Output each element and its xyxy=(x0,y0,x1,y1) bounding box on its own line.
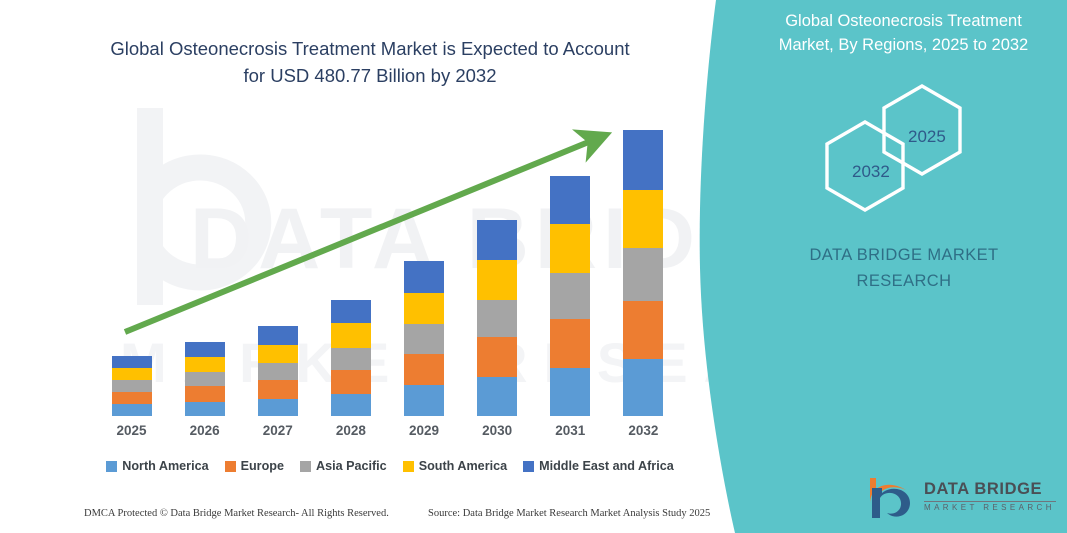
footer-copyright: DMCA Protected © Data Bridge Market Rese… xyxy=(84,508,389,519)
bar-segment xyxy=(112,392,152,404)
logo-main-text: DATA BRIDGE xyxy=(924,480,1060,498)
bar-segment xyxy=(550,273,590,319)
bar-segment xyxy=(331,370,371,393)
legend-item[interactable]: Middle East and Africa xyxy=(523,459,674,473)
panel-brand-line-1: DATA BRIDGE MARKET xyxy=(809,246,998,264)
bar-segment xyxy=(258,380,298,398)
x-axis-label-2031: 2031 xyxy=(535,423,605,438)
bar-segment xyxy=(112,368,152,380)
legend-swatch-icon xyxy=(225,461,236,472)
bar-segment xyxy=(477,260,517,300)
legend-label: Asia Pacific xyxy=(316,459,387,473)
bar-segment xyxy=(331,323,371,347)
bar-segment xyxy=(331,394,371,416)
x-axis-labels: 20252026202720282029203020312032 xyxy=(95,423,680,445)
logo-text: DATA BRIDGE MARKET RESEARCH xyxy=(924,480,1060,513)
bar-segment xyxy=(550,368,590,416)
logo-divider xyxy=(924,501,1056,502)
bar-segment xyxy=(331,300,371,323)
chart-legend: North AmericaEuropeAsia PacificSouth Ame… xyxy=(95,455,685,477)
panel-brand-line-2: RESEARCH xyxy=(857,272,952,290)
bar-segment xyxy=(258,363,298,380)
chart-title-line-1: Global Osteonecrosis Treatment Market is… xyxy=(110,38,629,59)
bar-segment xyxy=(185,357,225,372)
bar-segment xyxy=(185,342,225,357)
legend-label: South America xyxy=(419,459,507,473)
chart-panel: DATA BRIDGE MARKET RESEARCH Global Osteo… xyxy=(0,0,740,533)
bar-segment xyxy=(550,224,590,273)
bar-chart-plot-area xyxy=(95,110,680,416)
bar-segment xyxy=(477,337,517,377)
data-bridge-logo: DATA BRIDGE MARKET RESEARCH xyxy=(862,474,1058,526)
bar-segment xyxy=(331,348,371,370)
panel-title-line-1: Global Osteonecrosis Treatment xyxy=(785,12,1022,30)
panel-title-line-2: Market, By Regions, 2025 to 2032 xyxy=(779,36,1028,54)
stacked-bar-2032 xyxy=(623,130,663,416)
panel-brand-text: DATA BRIDGE MARKET RESEARCH xyxy=(754,243,1054,294)
infographic-root: DATA BRIDGE MARKET RESEARCH Global Osteo… xyxy=(0,0,1067,533)
stacked-bar-2026 xyxy=(185,342,225,416)
stacked-bar-2025 xyxy=(112,356,152,416)
bar-segment xyxy=(404,261,444,293)
bar-segment xyxy=(623,190,663,248)
bar-segment xyxy=(477,300,517,338)
bar-segment xyxy=(550,176,590,224)
legend-swatch-icon xyxy=(403,461,414,472)
hexagon-outlines xyxy=(740,82,1067,212)
bar-segment xyxy=(112,380,152,391)
legend-label: Europe xyxy=(241,459,284,473)
stacked-bar-2030 xyxy=(477,220,517,416)
x-axis-label-2026: 2026 xyxy=(170,423,240,438)
bar-segment xyxy=(404,324,444,354)
x-axis-label-2028: 2028 xyxy=(316,423,386,438)
bar-segment xyxy=(258,399,298,416)
bar-segment xyxy=(112,356,152,368)
bar-segment xyxy=(623,248,663,301)
logo-sub-text: MARKET RESEARCH xyxy=(924,504,1060,513)
x-axis-label-2032: 2032 xyxy=(608,423,678,438)
bar-segment xyxy=(477,220,517,260)
bar-segment xyxy=(185,372,225,386)
x-axis-label-2030: 2030 xyxy=(462,423,532,438)
panel-title: Global Osteonecrosis Treatment Market, B… xyxy=(750,10,1057,58)
legend-item[interactable]: South America xyxy=(403,459,507,473)
logo-mark-icon xyxy=(862,474,920,524)
bar-segment xyxy=(623,301,663,359)
legend-swatch-icon xyxy=(523,461,534,472)
legend-label: North America xyxy=(122,459,208,473)
bar-segment xyxy=(404,293,444,325)
bar-segment xyxy=(623,130,663,189)
stacked-bar-2028 xyxy=(331,300,371,416)
bar-segment xyxy=(550,319,590,368)
stacked-bar-2027 xyxy=(258,326,298,416)
bar-segment xyxy=(185,402,225,416)
bar-segment xyxy=(258,345,298,363)
teal-panel-content: Global Osteonecrosis Treatment Market, B… xyxy=(740,0,1067,533)
x-axis-label-2025: 2025 xyxy=(97,423,167,438)
chart-title-line-2: for USD 480.77 Billion by 2032 xyxy=(244,65,497,86)
bar-segment xyxy=(623,359,663,416)
legend-swatch-icon xyxy=(106,461,117,472)
bar-segment xyxy=(185,386,225,401)
bar-segment xyxy=(404,385,444,416)
stacked-bar-2029 xyxy=(404,261,444,416)
legend-item[interactable]: Europe xyxy=(225,459,284,473)
x-axis-label-2029: 2029 xyxy=(389,423,459,438)
stacked-bar-2031 xyxy=(550,176,590,416)
legend-item[interactable]: Asia Pacific xyxy=(300,459,387,473)
bar-segment xyxy=(112,404,152,416)
bar-segment xyxy=(404,354,444,386)
legend-item[interactable]: North America xyxy=(106,459,208,473)
bar-segment xyxy=(477,377,517,416)
legend-swatch-icon xyxy=(300,461,311,472)
bar-segment xyxy=(258,326,298,344)
hexagon-2032-label: 2032 xyxy=(852,162,890,182)
hexagon-badges xyxy=(740,82,1067,212)
footer: DMCA Protected © Data Bridge Market Rese… xyxy=(0,505,740,529)
chart-title: Global Osteonecrosis Treatment Market is… xyxy=(70,36,670,90)
x-axis-label-2027: 2027 xyxy=(243,423,313,438)
footer-source: Source: Data Bridge Market Research Mark… xyxy=(428,508,710,519)
hexagon-2025-label: 2025 xyxy=(908,127,946,147)
legend-label: Middle East and Africa xyxy=(539,459,674,473)
